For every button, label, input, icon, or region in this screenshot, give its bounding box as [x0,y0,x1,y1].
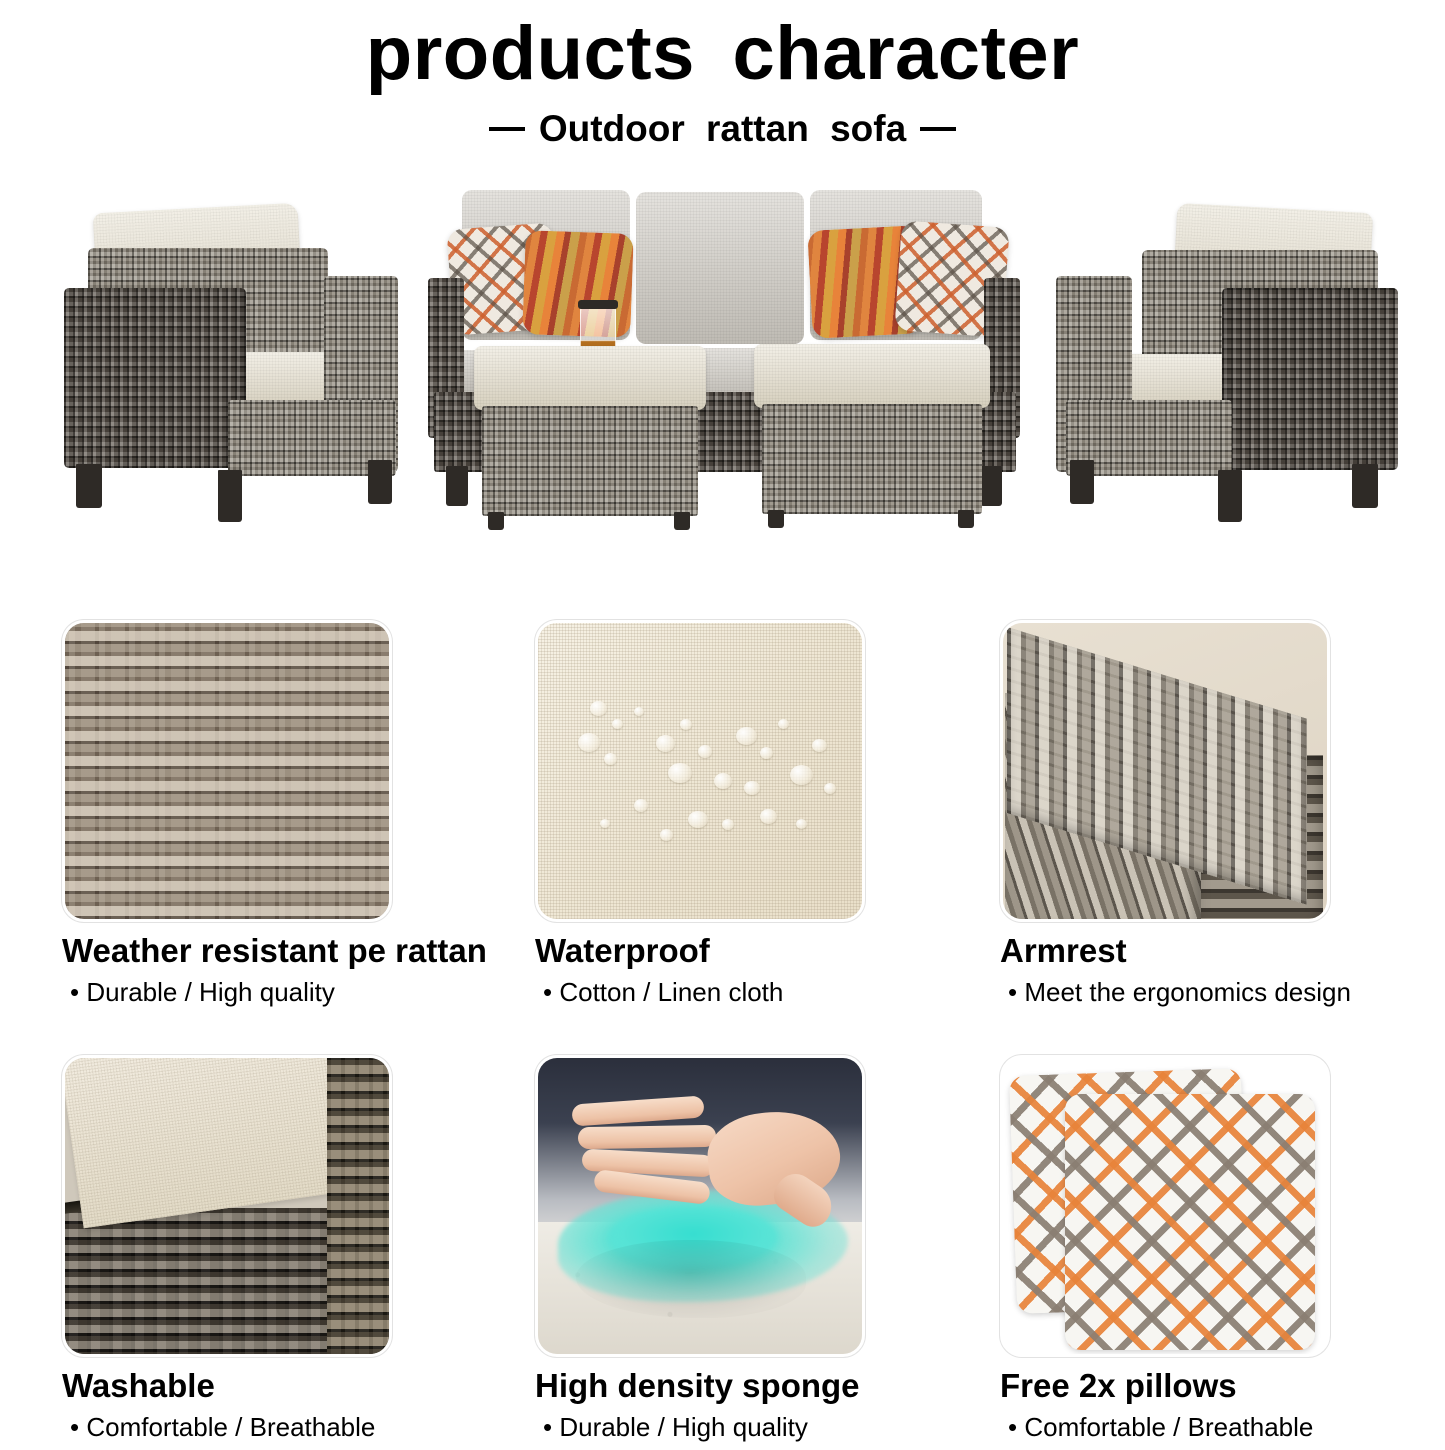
feature-grid: Weather resistant pe rattan • Durable / … [0,620,1445,1450]
feature-card-armrest[interactable]: Armrest • Meet the ergonomics design [1000,620,1445,1008]
feature-image-waterproof-linen-droplets [535,620,865,922]
ottoman-right [754,344,990,532]
feature-title: Weather resistant pe rattan [62,932,532,970]
em-dash-left-icon [489,127,525,131]
feature-subtitle: • Comfortable / Breathable [1008,1412,1445,1443]
feature-title: Waterproof [535,932,1005,970]
feature-title: High density sponge [535,1367,1005,1405]
ottoman-left-leg-left [488,512,504,530]
ottoman-left-cushion [474,346,706,410]
armchair-left [58,202,408,532]
feature-card-free-2x-pillows[interactable]: Free 2x pillows • Comfortable / Breathab… [1000,1055,1445,1443]
pillow-front [1065,1094,1315,1350]
feature-image-hand-pressing-memory-foam [535,1055,865,1357]
page-title: products character [0,14,1445,94]
ottoman-right-leg-right [958,510,974,528]
ottoman-right-leg-left [768,510,784,528]
sofa-leg-left [446,466,468,506]
subtitle-row: Outdoor rattan sofa [0,108,1445,150]
feature-card-washable[interactable]: Washable • Comfortable / Breathable [62,1055,532,1443]
armchair-left-leg-mid [218,470,242,522]
teapot-lid [578,300,618,309]
ottoman-left-base [482,406,698,516]
feature-subtitle: • Durable / High quality [70,977,532,1008]
hero-product-image [0,172,1445,572]
em-dash-right-icon [920,127,956,131]
armchair-right-leg-front [1352,464,1378,508]
feature-subtitle: • Durable / High quality [543,1412,1005,1443]
feature-card-high-density-sponge[interactable]: High density sponge • Durable / High qua… [535,1055,1005,1443]
water-droplets-icon [538,623,862,919]
feature-title: Free 2x pillows [1000,1367,1445,1405]
armchair-right [1046,202,1394,532]
feature-title: Washable [62,1367,532,1405]
feature-subtitle: • Comfortable / Breathable [70,1412,532,1443]
ottoman-left-leg-right [674,512,690,530]
feature-subtitle: • Meet the ergonomics design [1008,977,1445,1008]
ottoman-right-base [762,404,982,514]
armchair-left-leg-back [368,460,392,504]
feature-subtitle: • Cotton / Linen cloth [543,977,1005,1008]
feature-card-weather-resistant-pe-rattan[interactable]: Weather resistant pe rattan • Durable / … [62,620,532,1008]
armchair-right-leg-mid [1218,470,1242,522]
feature-title: Armrest [1000,932,1445,970]
armchair-right-arm-front [1222,288,1398,470]
feature-row-2: Washable • Comfortable / Breathable [0,1050,1445,1450]
feature-image-armrest-corner-closeup [1000,620,1330,922]
armchair-left-leg-front [76,464,102,508]
ottoman-right-cushion [754,344,990,408]
feature-row-1: Weather resistant pe rattan • Durable / … [0,620,1445,1050]
ottoman-left [474,346,706,532]
armchair-left-arm-front [64,288,246,468]
feature-image-rattan-weave-swatch [62,620,392,922]
feature-image-washable-cushion-zipper [62,1055,392,1357]
foam-handprint-dent [576,1240,806,1318]
page-header: products character Outdoor rattan sofa [0,0,1445,150]
page-subtitle: Outdoor rattan sofa [539,108,906,150]
feature-image-two-diamond-pattern-pillows [1000,1055,1330,1357]
hand-icon [572,1086,840,1214]
armchair-right-leg-back [1070,460,1094,504]
feature-card-waterproof[interactable]: Waterproof • Cotton / Linen cloth [535,620,1005,1008]
washable-corner-post [327,1055,389,1357]
